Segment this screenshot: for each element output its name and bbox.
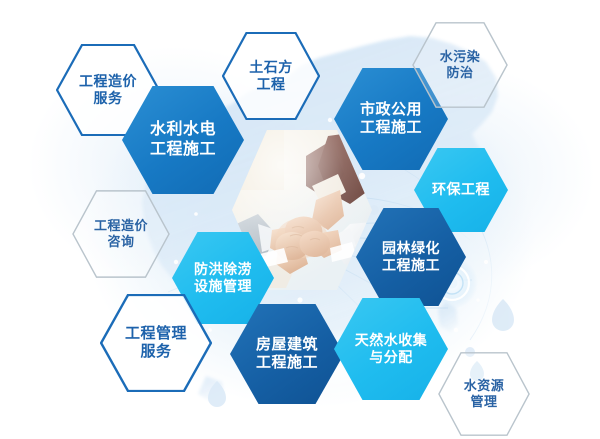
- hex-label-line1: 土石方: [249, 59, 293, 76]
- hex-label-line2: 工程施工: [150, 140, 216, 160]
- infographic-canvas: 工程造价 服务 土石方 工程 水利水电 工程施工 市政公用 工程施工 水污染 防…: [0, 0, 600, 439]
- hex-label-line1: 环保工程: [432, 181, 490, 198]
- hex-label-line1: 房屋建筑: [256, 336, 318, 354]
- hex-label-line2: 管理: [470, 394, 497, 410]
- hex-label-line1: 工程造价: [94, 218, 148, 234]
- hex-water-pollution-control[interactable]: 水污染 防治: [412, 22, 508, 108]
- hex-label: 土石方 工程: [222, 32, 320, 120]
- hex-label-line2: 工程施工: [382, 257, 440, 274]
- hex-label-line2: 防治: [446, 65, 473, 81]
- hex-label-line2: 服务: [94, 90, 123, 107]
- hex-label-line1: 工程管理: [125, 325, 187, 343]
- hex-label-line2: 服务: [140, 343, 171, 361]
- hex-water-resources-management[interactable]: 水资源 管理: [438, 352, 530, 436]
- hex-label-line2: 工程施工: [360, 119, 422, 137]
- hex-label-line1: 园林绿化: [382, 240, 440, 257]
- hex-label-line2: 设施管理: [194, 278, 252, 295]
- hex-label-line1: 工程造价: [79, 73, 137, 90]
- hex-label: 工程造价 服务: [56, 44, 160, 136]
- hex-earthwork-engineering[interactable]: 土石方 工程: [222, 32, 320, 120]
- hex-engineering-cost-service[interactable]: 工程造价 服务: [56, 44, 160, 136]
- hex-label: 工程管理 服务: [100, 294, 212, 392]
- hex-label-line1: 水资源: [464, 378, 505, 394]
- hex-label: 工程造价 咨询: [72, 190, 170, 278]
- hex-engineering-management-service[interactable]: 工程管理 服务: [100, 294, 212, 392]
- hex-label-line2: 与分配: [369, 349, 413, 366]
- hex-engineering-cost-consulting[interactable]: 工程造价 咨询: [72, 190, 170, 278]
- hex-label: 水污染 防治: [412, 22, 508, 108]
- hex-label-line1: 水污染: [440, 49, 481, 65]
- hex-label-line1: 天然水收集: [355, 332, 428, 349]
- hex-label-line2: 工程: [257, 76, 286, 93]
- hex-label-line2: 咨询: [107, 234, 134, 250]
- hex-natural-water-collection-distribution[interactable]: 天然水收集 与分配: [334, 298, 448, 400]
- hex-label: 水资源 管理: [438, 352, 530, 436]
- hex-label-line1: 防洪除涝: [194, 261, 252, 278]
- hex-label-line2: 工程施工: [256, 354, 318, 372]
